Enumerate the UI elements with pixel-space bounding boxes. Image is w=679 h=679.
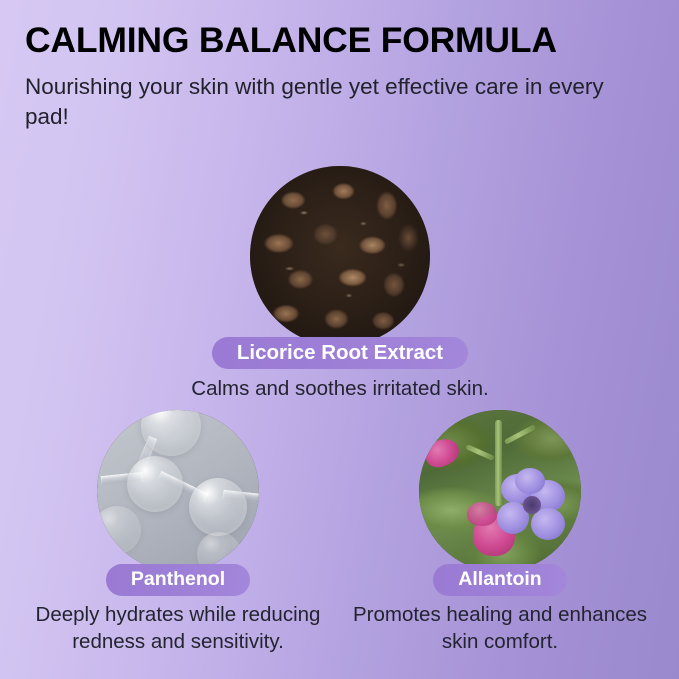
pink-flower [467, 502, 497, 526]
molecule-sphere [189, 478, 247, 536]
allantoin-lungwort-flower-photo [419, 410, 581, 572]
ingredient-card-licorice-root-extract: Licorice Root Extract Calms and soothes … [150, 166, 530, 402]
molecule-sphere [127, 456, 183, 512]
licorice-root-photo [250, 166, 430, 346]
ingredient-card-allantoin: Allantoin Promotes healing and enhances … [330, 410, 670, 656]
ingredient-description-allantoin: Promotes healing and enhances skin comfo… [332, 601, 668, 656]
ingredient-badge-allantoin: Allantoin [433, 564, 566, 596]
plant-stem [465, 444, 494, 461]
page-title: CALMING BALANCE FORMULA [25, 22, 661, 58]
ingredient-description-licorice-root-extract: Calms and soothes irritated skin. [150, 375, 530, 402]
licorice-root-image [250, 166, 430, 346]
header: CALMING BALANCE FORMULA Nourishing your … [25, 22, 661, 132]
violet-flower-petal [515, 468, 545, 494]
molecule-sphere [97, 506, 141, 554]
panthenol-thumbnail-wrap [8, 410, 348, 572]
allantoin-flower-image [419, 410, 581, 572]
flower-center [523, 496, 541, 514]
calming-balance-formula-infographic: CALMING BALANCE FORMULA Nourishing your … [0, 0, 679, 679]
panthenol-molecule-photo [97, 410, 259, 572]
page-subtitle: Nourishing your skin with gentle yet eff… [25, 72, 635, 132]
plant-stem [504, 424, 536, 444]
licorice-thumbnail-wrap [150, 166, 530, 346]
ingredient-badge-panthenol: Panthenol [106, 564, 250, 596]
ingredient-card-panthenol: Panthenol Deeply hydrates while reducing… [8, 410, 348, 656]
panthenol-molecule-image [97, 410, 259, 572]
ingredient-description-panthenol: Deeply hydrates while reducing redness a… [10, 601, 346, 656]
allantoin-thumbnail-wrap [330, 410, 670, 572]
pink-flower [421, 434, 463, 472]
ingredient-badge-licorice-root-extract: Licorice Root Extract [212, 337, 468, 369]
